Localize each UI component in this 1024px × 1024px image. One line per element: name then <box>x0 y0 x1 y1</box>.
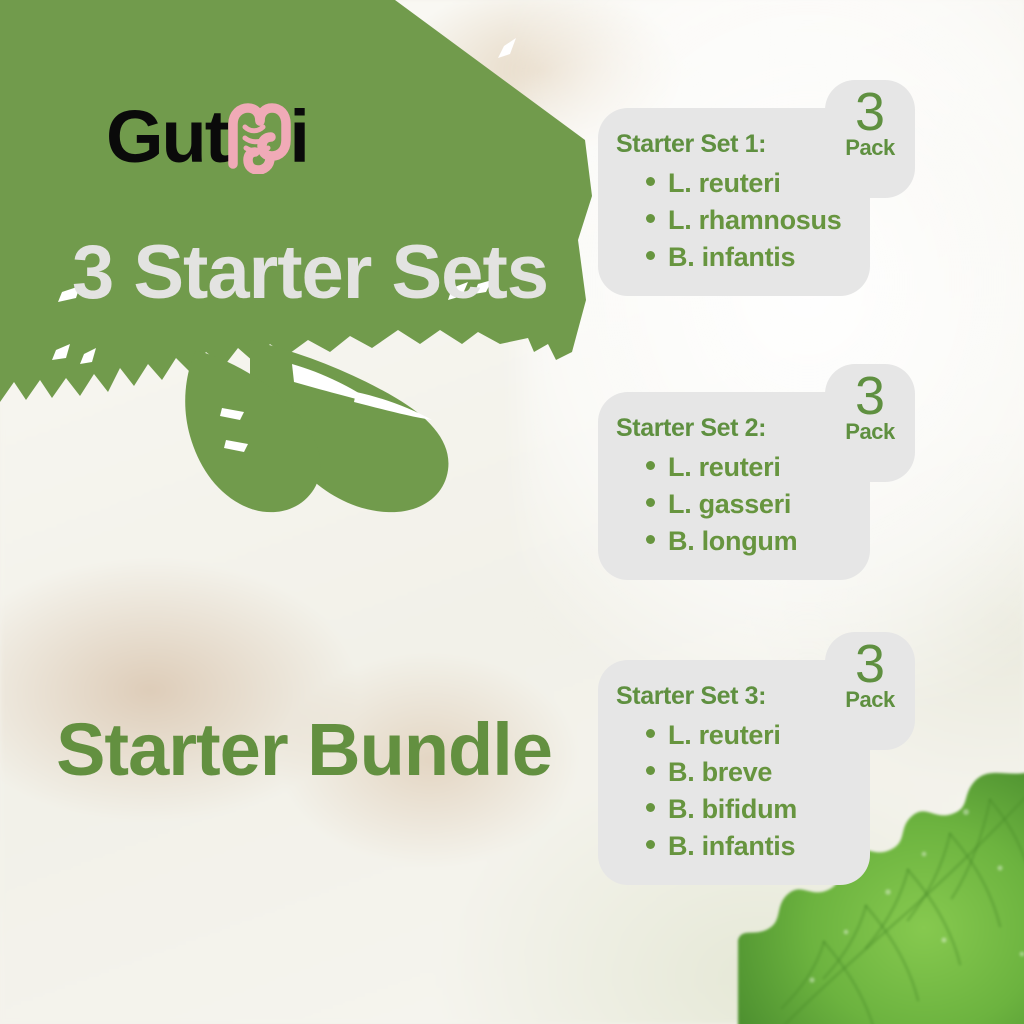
bullet-icon <box>646 461 655 470</box>
bullet-icon <box>646 214 655 223</box>
card-title: Starter Set 1: <box>616 130 852 159</box>
intestine-icon <box>224 100 294 174</box>
strain-name: L. reuteri <box>668 452 781 483</box>
strain-name: L. rhamnosus <box>668 205 841 236</box>
green-brush-shape <box>0 0 640 680</box>
strain-list: L. reuteri L. gasseri B. longum <box>616 449 852 560</box>
list-item: B. infantis <box>616 239 852 276</box>
list-item: B. breve <box>616 754 852 791</box>
list-item: L. reuteri <box>616 165 852 202</box>
strain-name: L. reuteri <box>668 168 781 199</box>
card-title: Starter Set 2: <box>616 414 852 443</box>
starter-set-card-3: 3 Pack Starter Set 3: L. reuteri B. brev… <box>598 660 870 885</box>
bullet-icon <box>646 251 655 260</box>
strain-name: L. gasseri <box>668 489 791 520</box>
list-item: L. reuteri <box>616 449 852 486</box>
logo-text-i: i <box>289 100 308 174</box>
pack-number: 3 <box>855 86 885 139</box>
strain-name: B. breve <box>668 757 772 788</box>
list-item: B. bifidum <box>616 791 852 828</box>
page-title-bottom: Starter Bundle <box>54 706 554 795</box>
starter-set-card-2: 3 Pack Starter Set 2: L. reuteri L. gass… <box>598 392 870 580</box>
pack-label: Pack <box>845 687 894 713</box>
bullet-icon <box>646 535 655 544</box>
card-title: Starter Set 3: <box>616 682 852 711</box>
pack-badge-2: 3 Pack <box>825 364 915 482</box>
bullet-icon <box>646 766 655 775</box>
list-item: B. infantis <box>616 828 852 865</box>
bullet-icon <box>646 803 655 812</box>
strain-name: B. longum <box>668 526 797 557</box>
list-item: L. reuteri <box>616 717 852 754</box>
strain-list: L. reuteri L. rhamnosus B. infantis <box>616 165 852 276</box>
strain-name: B. infantis <box>668 242 795 273</box>
pack-label: Pack <box>845 419 894 445</box>
strain-list: L. reuteri B. breve B. bifidum B. infant… <box>616 717 852 865</box>
list-item: L. gasseri <box>616 486 852 523</box>
brand-logo: Gut i <box>106 96 308 178</box>
pack-number: 3 <box>855 370 885 423</box>
bullet-icon <box>646 498 655 507</box>
product-poster: Gut i 3 Starter Sets Starter Bundle 3 Pa… <box>0 0 1024 1024</box>
strain-name: B. bifidum <box>668 794 797 825</box>
strain-name: L. reuteri <box>668 720 781 751</box>
pack-badge-3: 3 Pack <box>825 632 915 750</box>
logo-text-gut: Gut <box>106 100 227 174</box>
bullet-icon <box>646 177 655 186</box>
pack-number: 3 <box>855 638 885 691</box>
bullet-icon <box>646 840 655 849</box>
bullet-icon <box>646 729 655 738</box>
pack-badge-1: 3 Pack <box>825 80 915 198</box>
strain-name: B. infantis <box>668 831 795 862</box>
list-item: B. longum <box>616 523 852 560</box>
list-item: L. rhamnosus <box>616 202 852 239</box>
starter-set-card-1: 3 Pack Starter Set 1: L. reuteri L. rham… <box>598 108 870 296</box>
pack-label: Pack <box>845 135 894 161</box>
page-title-top: 3 Starter Sets <box>60 228 560 318</box>
